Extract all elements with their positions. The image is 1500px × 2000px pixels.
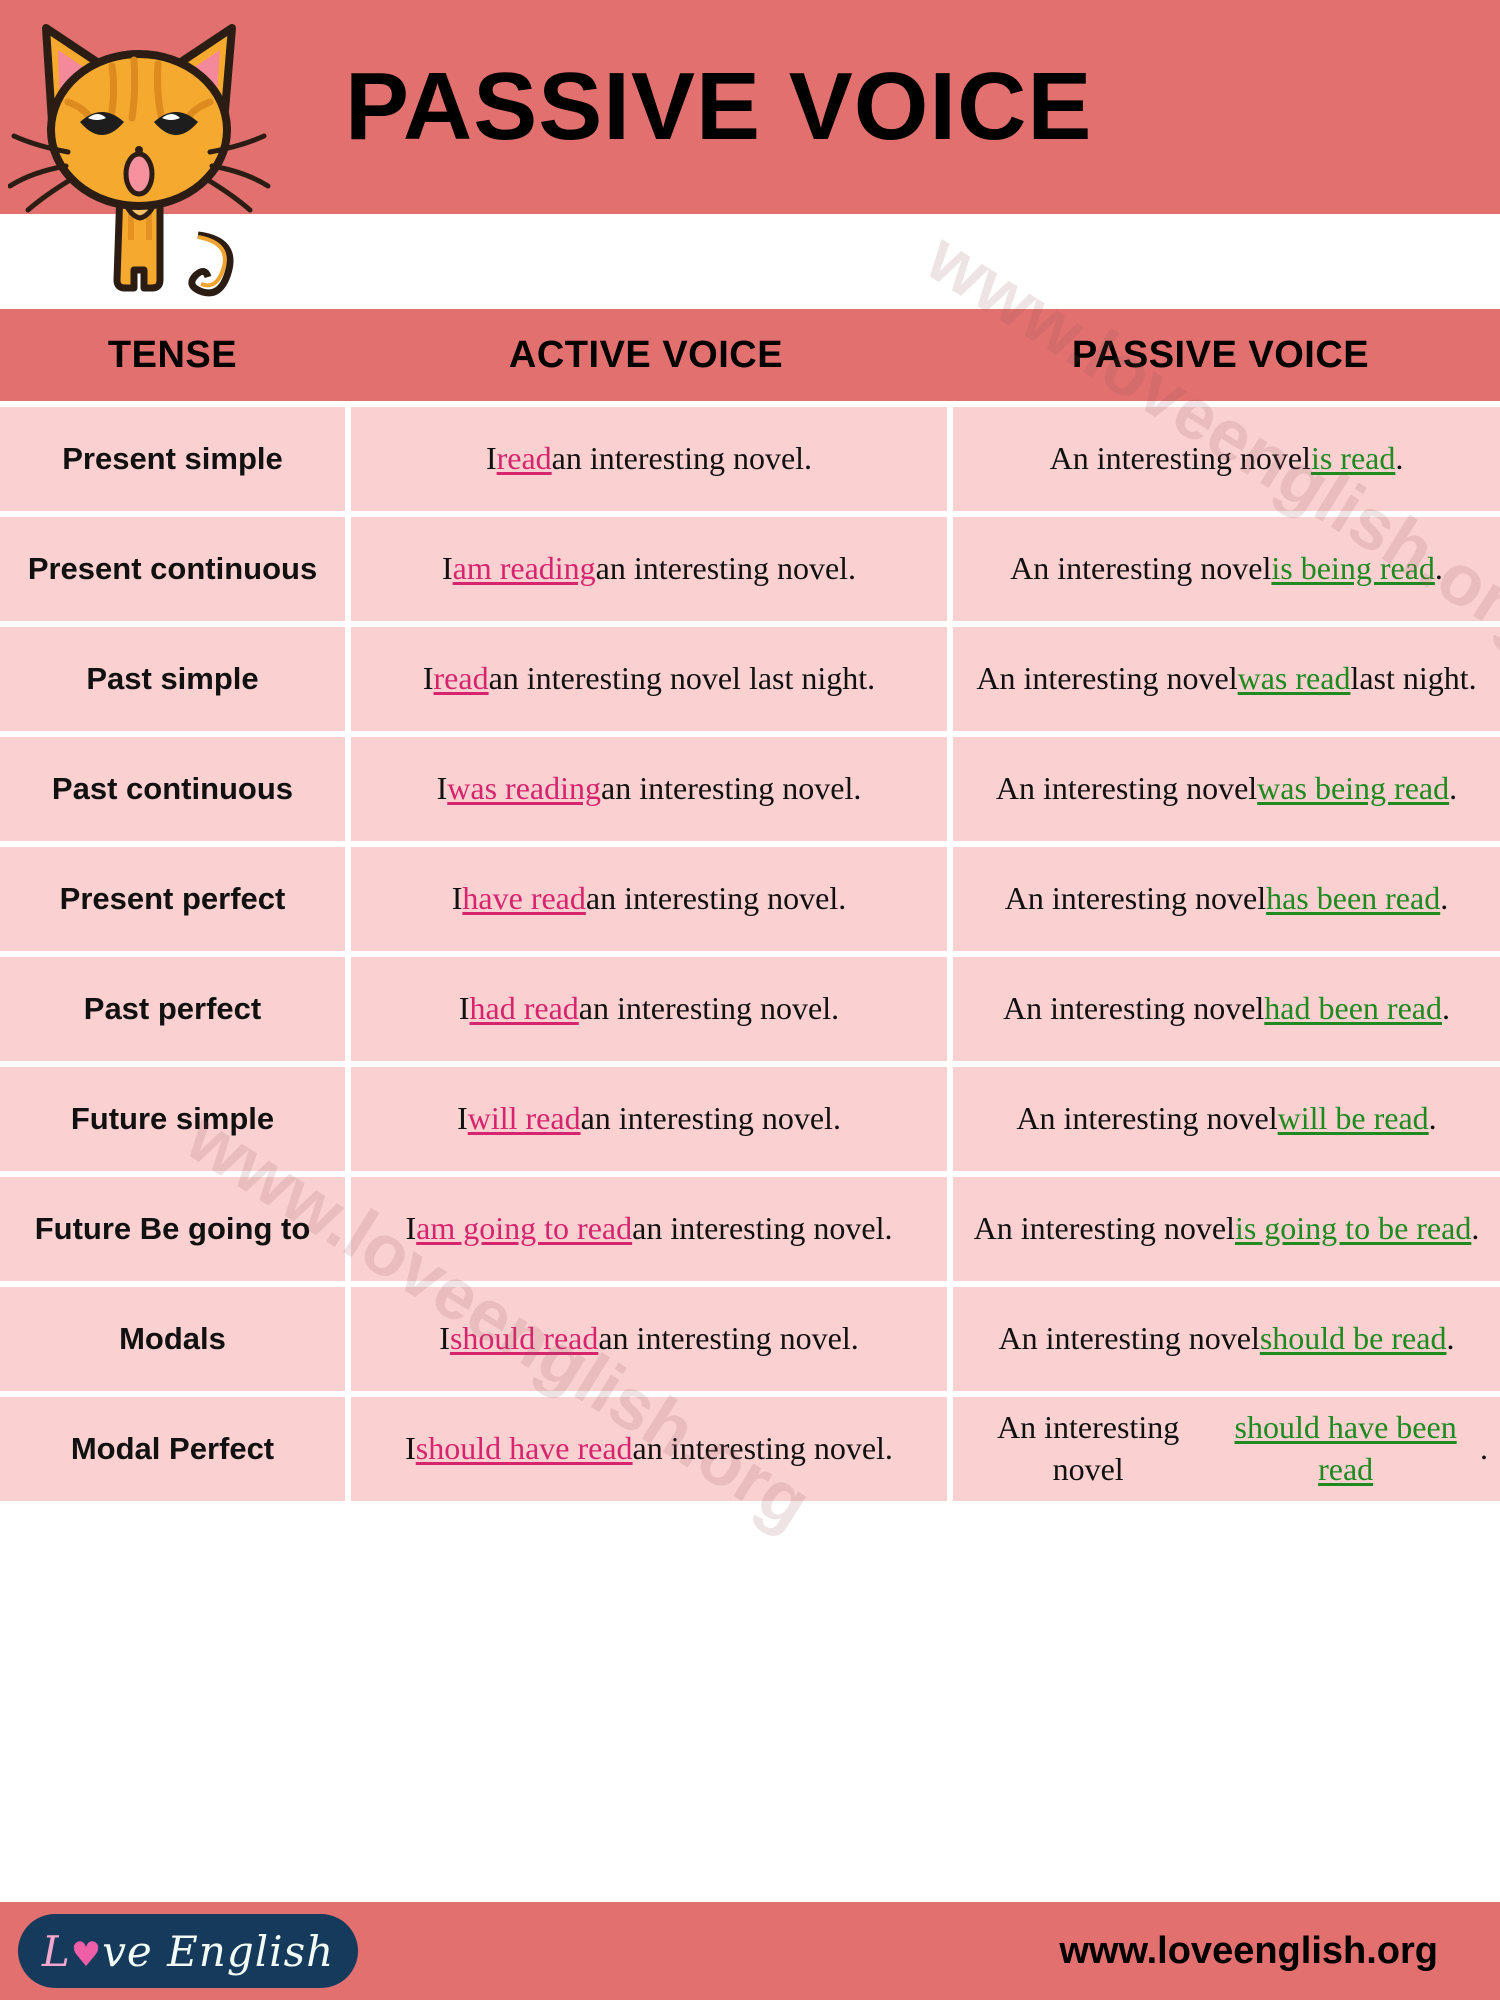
- passive-suffix: .: [1471, 1208, 1479, 1250]
- cell-active-voice: I was reading an interesting novel.: [351, 737, 947, 841]
- active-prefix: I: [406, 1208, 417, 1250]
- active-verb-highlight: had read: [470, 988, 579, 1030]
- table-row: Present perfectI have read an interestin…: [0, 847, 1500, 951]
- cell-passive-voice: An interesting novel should be read.: [953, 1287, 1500, 1391]
- cell-passive-voice: An interesting novel is going to be read…: [953, 1177, 1500, 1281]
- active-prefix: I: [437, 768, 448, 810]
- passive-prefix: An interesting novel: [1016, 1098, 1277, 1140]
- cell-active-voice: I had read an interesting novel.: [351, 957, 947, 1061]
- active-prefix: I: [459, 988, 470, 1030]
- passive-voice-table: TENSE ACTIVE VOICE PASSIVE VOICE Present…: [0, 309, 1500, 1501]
- cell-active-voice: I am reading an interesting novel.: [351, 517, 947, 621]
- active-suffix: an interesting novel.: [632, 1208, 892, 1250]
- active-prefix: I: [452, 878, 463, 920]
- active-prefix: I: [423, 658, 434, 700]
- passive-suffix: .: [1449, 768, 1457, 810]
- love-english-logo[interactable]: L♥ve English: [18, 1914, 358, 1988]
- active-verb-highlight: am reading: [453, 548, 596, 590]
- cell-active-voice: I should have read an interesting novel.: [351, 1397, 947, 1501]
- table-row: Present simpleI read an interesting nove…: [0, 407, 1500, 511]
- footer-website-url[interactable]: www.loveenglish.org: [1059, 1930, 1438, 1973]
- cell-active-voice: I am going to read an interesting novel.: [351, 1177, 947, 1281]
- cell-active-voice: I read an interesting novel last night.: [351, 627, 947, 731]
- cell-active-voice: I read an interesting novel.: [351, 407, 947, 511]
- page-footer: L♥ve English www.loveenglish.org: [0, 1902, 1500, 2000]
- passive-suffix: .: [1395, 438, 1403, 480]
- cell-tense: Present continuous: [0, 517, 345, 621]
- cell-tense: Past continuous: [0, 737, 345, 841]
- cell-passive-voice: An interesting novel is read.: [953, 407, 1500, 511]
- active-verb-highlight: read: [497, 438, 552, 480]
- cat-mascot-icon: [8, 10, 278, 310]
- column-header-passive-voice: PASSIVE VOICE: [947, 309, 1494, 401]
- heart-icon: ♥: [71, 1935, 102, 1975]
- cell-tense: Present simple: [0, 407, 345, 511]
- active-prefix: I: [405, 1428, 416, 1470]
- cell-passive-voice: An interesting novel had been read.: [953, 957, 1500, 1061]
- passive-verb-highlight: has been read: [1266, 878, 1440, 920]
- cell-tense: Future simple: [0, 1067, 345, 1171]
- active-suffix: an interesting novel.: [581, 1098, 841, 1140]
- table-row: Past continuousI was reading an interest…: [0, 737, 1500, 841]
- passive-suffix: .: [1442, 988, 1450, 1030]
- passive-verb-highlight: was read: [1238, 658, 1351, 700]
- passive-prefix: An interesting novel: [1005, 878, 1266, 920]
- active-suffix: an interesting novel last night.: [489, 658, 876, 700]
- active-verb-highlight: have read: [462, 878, 585, 920]
- passive-prefix: An interesting novel: [976, 658, 1237, 700]
- cell-active-voice: I will read an interesting novel.: [351, 1067, 947, 1171]
- logo-letter-l: L: [42, 1927, 71, 1976]
- passive-prefix: An interesting novel: [1050, 438, 1311, 480]
- cell-passive-voice: An interesting novel should have been re…: [953, 1397, 1500, 1501]
- logo-rest: ve English: [102, 1927, 334, 1976]
- active-prefix: I: [439, 1318, 450, 1360]
- passive-verb-highlight: was being read: [1257, 768, 1449, 810]
- active-verb-highlight: should have read: [416, 1428, 633, 1470]
- passive-suffix: .: [1480, 1428, 1488, 1470]
- active-suffix: an interesting novel.: [552, 438, 812, 480]
- passive-verb-highlight: is read: [1311, 438, 1395, 480]
- passive-prefix: An interesting novel: [1003, 988, 1264, 1030]
- active-verb-highlight: read: [434, 658, 489, 700]
- passive-verb-highlight: should have been read: [1211, 1407, 1480, 1490]
- cell-passive-voice: An interesting novel will be read.: [953, 1067, 1500, 1171]
- active-prefix: I: [486, 438, 497, 480]
- table-row: Modal PerfectI should have read an inter…: [0, 1397, 1500, 1501]
- passive-suffix: .: [1440, 878, 1448, 920]
- table-header-row: TENSE ACTIVE VOICE PASSIVE VOICE: [0, 309, 1500, 401]
- active-suffix: an interesting novel.: [601, 768, 861, 810]
- passive-prefix: An interesting novel: [965, 1407, 1211, 1490]
- passive-verb-highlight: is going to be read: [1235, 1208, 1471, 1250]
- table-row: Future simpleI will read an interesting …: [0, 1067, 1500, 1171]
- passive-verb-highlight: should be read: [1260, 1318, 1447, 1360]
- table-row: Future Be going toI am going to read an …: [0, 1177, 1500, 1281]
- active-verb-highlight: should read: [450, 1318, 598, 1360]
- active-prefix: I: [457, 1098, 468, 1140]
- cell-tense: Past perfect: [0, 957, 345, 1061]
- passive-suffix: .: [1446, 1318, 1454, 1360]
- cell-passive-voice: An interesting novel is being read.: [953, 517, 1500, 621]
- passive-suffix: .: [1429, 1098, 1437, 1140]
- table-row: ModalsI should read an interesting novel…: [0, 1287, 1500, 1391]
- logo-text: L♥ve English: [42, 1927, 334, 1976]
- passive-prefix: An interesting novel: [974, 1208, 1235, 1250]
- active-verb-highlight: will read: [468, 1098, 581, 1140]
- page-title: PASSIVE VOICE: [345, 52, 1092, 162]
- cell-passive-voice: An interesting novel was being read.: [953, 737, 1500, 841]
- cell-active-voice: I should read an interesting novel.: [351, 1287, 947, 1391]
- active-suffix: an interesting novel.: [596, 548, 856, 590]
- active-prefix: I: [442, 548, 453, 590]
- column-header-active-voice: ACTIVE VOICE: [345, 309, 947, 401]
- cell-tense: Future Be going to: [0, 1177, 345, 1281]
- active-suffix: an interesting novel.: [579, 988, 839, 1030]
- passive-prefix: An interesting novel: [1010, 548, 1271, 590]
- cell-passive-voice: An interesting novel has been read.: [953, 847, 1500, 951]
- active-suffix: an interesting novel.: [633, 1428, 893, 1470]
- active-verb-highlight: was reading: [447, 768, 601, 810]
- cell-tense: Past simple: [0, 627, 345, 731]
- cell-passive-voice: An interesting novel was read last night…: [953, 627, 1500, 731]
- active-verb-highlight: am going to read: [416, 1208, 632, 1250]
- cell-active-voice: I have read an interesting novel.: [351, 847, 947, 951]
- passive-suffix: .: [1435, 548, 1443, 590]
- passive-verb-highlight: will be read: [1278, 1098, 1429, 1140]
- table-row: Past perfectI had read an interesting no…: [0, 957, 1500, 1061]
- column-header-tense: TENSE: [0, 309, 345, 401]
- active-suffix: an interesting novel.: [586, 878, 846, 920]
- cell-tense: Present perfect: [0, 847, 345, 951]
- table-row: Past simpleI read an interesting novel l…: [0, 627, 1500, 731]
- passive-prefix: An interesting novel: [999, 1318, 1260, 1360]
- cell-tense: Modal Perfect: [0, 1397, 345, 1501]
- active-suffix: an interesting novel.: [598, 1318, 858, 1360]
- passive-verb-highlight: had been read: [1264, 988, 1442, 1030]
- passive-prefix: An interesting novel: [996, 768, 1257, 810]
- cell-tense: Modals: [0, 1287, 345, 1391]
- table-row: Present continuousI am reading an intere…: [0, 517, 1500, 621]
- passive-verb-highlight: is being read: [1271, 548, 1435, 590]
- passive-suffix: last night.: [1350, 658, 1476, 700]
